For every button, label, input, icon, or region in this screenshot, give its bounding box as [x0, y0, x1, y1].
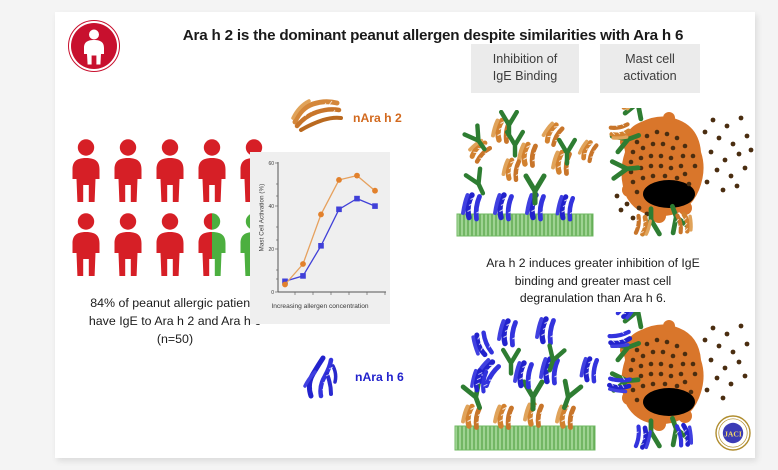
patient-caption-line3: (n=50): [61, 331, 289, 349]
protein-label-nara-h-6: nAra h 6: [355, 370, 404, 384]
chart-ytick-0: 0: [271, 290, 274, 296]
illustration-mast-cell-ara-h-2: [607, 108, 755, 240]
chart-series-ara-h-2-line: [285, 176, 375, 285]
findings-caption: Ara h 2 induces greater inhibition of Ig…: [453, 255, 733, 308]
patient-row-2: [73, 213, 268, 276]
logo-ring: [68, 20, 120, 72]
protein-structure-ara-h-2-icon: [287, 92, 349, 134]
jaci-badge: JACI: [715, 415, 751, 451]
chart-svg: 0 20 40 60: [250, 152, 390, 324]
protein-structure-ara-h-6-icon: [297, 352, 349, 400]
column-header-mast-cell-line2: activation: [606, 68, 694, 85]
patient-icon-half: [199, 213, 226, 276]
patient-row-1: [73, 139, 268, 202]
jaci-badge-text: JACI: [724, 429, 742, 438]
free-ara-h-2-ige-complexes: [465, 112, 600, 180]
column-header-mast-cell: Mast cell activation: [600, 44, 700, 93]
findings-caption-line1: Ara h 2 induces greater inhibition of Ig…: [453, 255, 733, 273]
journal-logo: [68, 20, 120, 72]
column-header-inhibition: Inhibition of IgE Binding: [471, 44, 579, 93]
mast-cell-activation-chart: 0 20 40 60: [250, 152, 390, 324]
chart-ytick-20: 20: [268, 247, 274, 253]
released-granules: [703, 324, 750, 401]
column-header-mast-cell-line1: Mast cell: [606, 51, 694, 68]
graphical-abstract-poster: Ara h 2 is the dominant peanut allergen …: [55, 12, 755, 458]
chart-ytick-60: 60: [268, 161, 274, 167]
column-header-inhibition-line2: IgE Binding: [477, 68, 573, 85]
illustration-inhibition-ara-h-2: [455, 110, 605, 240]
chart-x-axis-label: Increasing allergen concentration: [250, 303, 390, 310]
free-ara-h-6-ige-complexes: [470, 319, 599, 391]
illustration-inhibition-ara-h-6: [453, 312, 605, 454]
protein-label-nara-h-2: nAra h 2: [353, 111, 402, 125]
chart-series-ara-h-2-markers: [282, 173, 378, 288]
column-header-inhibition-line1: Inhibition of: [477, 51, 573, 68]
findings-caption-line2: binding and greater mast cell: [453, 273, 733, 291]
chart-y-axis-label: Mast Cell Activation (%): [259, 163, 266, 273]
findings-caption-line3: degranulation than Ara h 6.: [453, 290, 733, 308]
mast-cell-nucleus: [643, 388, 695, 416]
page-title: Ara h 2 is the dominant peanut allergen …: [127, 26, 739, 45]
chart-ytick-40: 40: [268, 204, 274, 210]
